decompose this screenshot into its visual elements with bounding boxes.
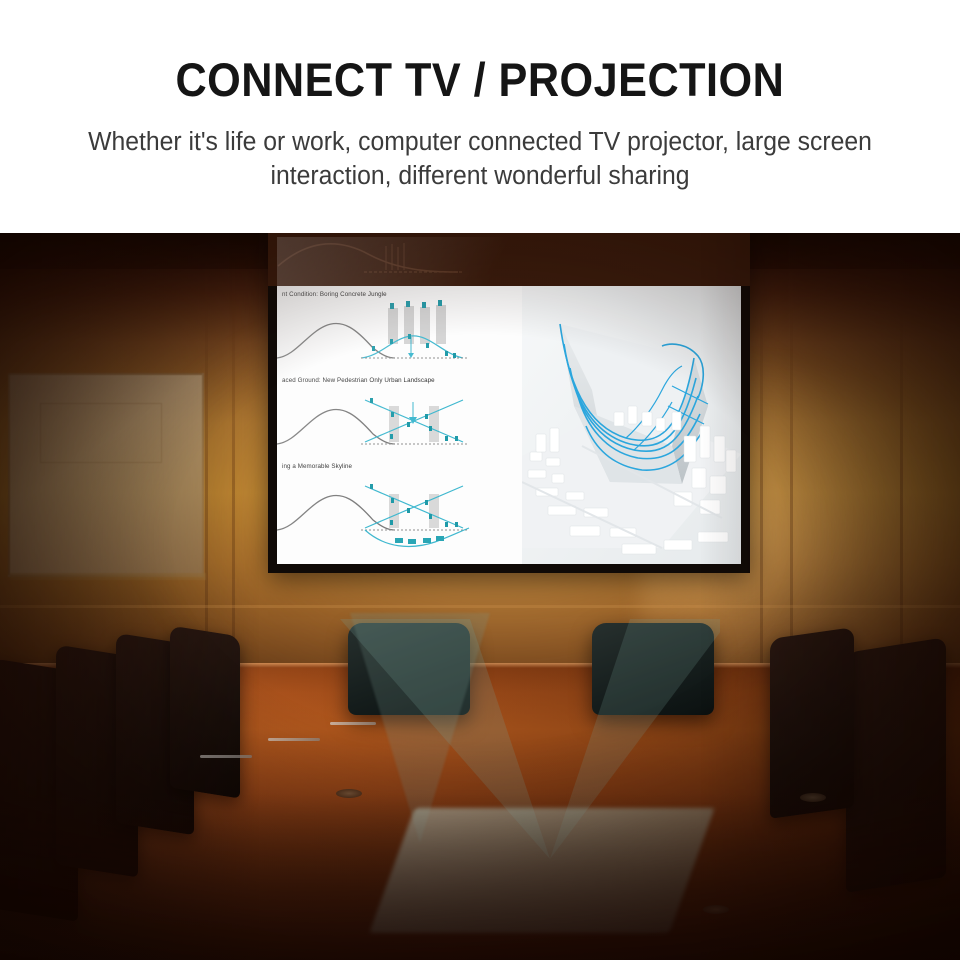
whiteboard-tray — [10, 573, 206, 580]
chair-left-4 — [170, 625, 240, 798]
page-subtitle: Whether it's life or work, computer conn… — [87, 126, 873, 193]
whiteboard-marking — [40, 403, 162, 463]
wall-rail — [0, 605, 960, 608]
screen-top-band — [268, 233, 750, 286]
pen — [200, 755, 252, 758]
table-grommet — [336, 789, 362, 798]
banner-header: CONNECT TV / PROJECTION Whether it's lif… — [0, 0, 960, 233]
diagram-memorable-skyline — [277, 472, 522, 558]
chair-right-2 — [770, 627, 854, 819]
whiteboard — [8, 373, 204, 577]
projection-screen[interactable]: nt Condition: Boring Concrete Jungle ace… — [268, 233, 750, 573]
slide-label-3: ing a Memorable Skyline — [282, 463, 352, 470]
product-banner-page: CONNECT TV / PROJECTION Whether it's lif… — [0, 0, 960, 960]
projector-light-patch — [369, 808, 714, 933]
urban-3d-model — [522, 286, 741, 564]
slide-label-2: aced Ground: New Pedestrian Only Urban L… — [282, 377, 435, 384]
conference-room-photo: nt Condition: Boring Concrete Jungle ace… — [0, 233, 960, 960]
diagram-pedestrian-landscape — [277, 386, 522, 462]
wall-seam — [760, 259, 763, 703]
wall-seam — [900, 259, 903, 703]
slide-label-1: nt Condition: Boring Concrete Jungle — [282, 291, 387, 298]
screen-top-faint-graphic — [268, 233, 750, 286]
urban-3d-model-svg — [522, 286, 741, 564]
page-title: CONNECT TV / PROJECTION — [176, 56, 785, 103]
table-grommet — [800, 793, 826, 802]
diagram-concrete-jungle — [277, 300, 522, 376]
projected-slide: nt Condition: Boring Concrete Jungle ace… — [277, 286, 741, 564]
chair-right-1 — [846, 637, 946, 893]
table-grommet — [703, 905, 729, 914]
